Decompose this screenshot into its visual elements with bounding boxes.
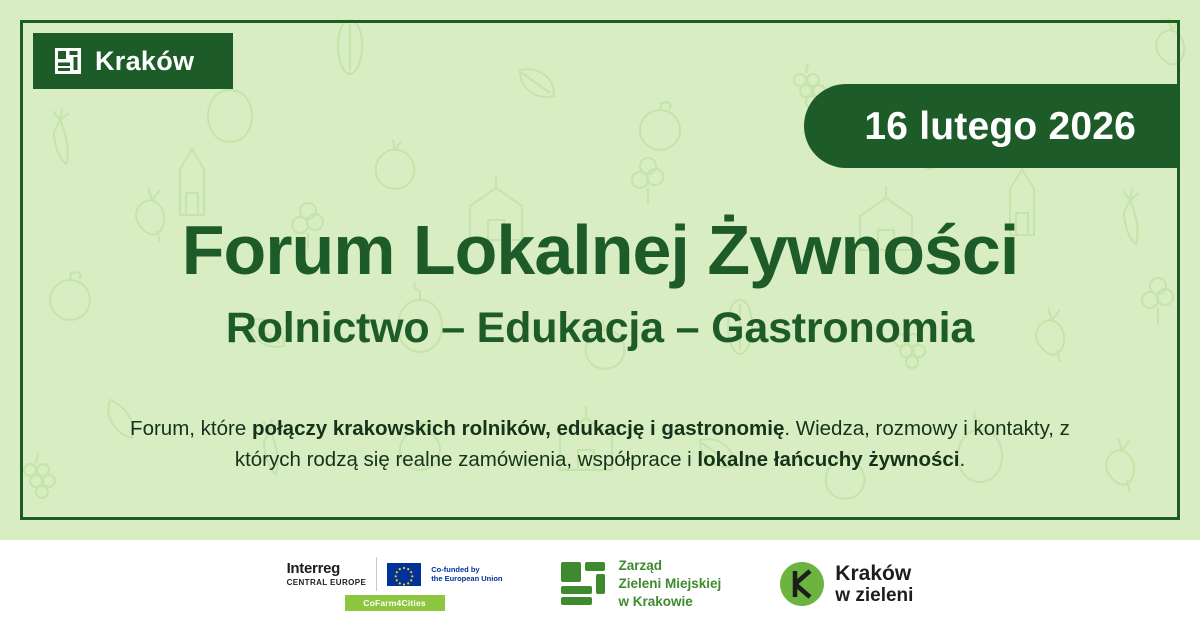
eu-flag-icon xyxy=(387,563,421,586)
poster-green-panel: Kraków 16 lutego 2026 Forum Lokalnej Żyw… xyxy=(0,0,1200,540)
zzm-leaf-grid-icon xyxy=(561,562,609,606)
kwz-line2: w zieleni xyxy=(835,585,913,606)
krakow-square-mark-icon xyxy=(55,48,81,74)
krakow-green-leaf-icon xyxy=(779,561,825,607)
interreg-wordmark: Interreg CENTRAL EUROPE xyxy=(287,561,367,587)
krakow-w-zieleni-wordmark: Kraków w zieleni xyxy=(835,562,913,607)
event-date-text: 16 lutego 2026 xyxy=(864,107,1136,146)
interreg-name-line1: Interreg xyxy=(287,561,367,576)
desc-line2-bold: lokalne łańcuchy żywności xyxy=(697,448,959,471)
krakow-logo-text: Kraków xyxy=(95,48,194,75)
kwz-line1: Kraków xyxy=(835,562,913,586)
logo-divider xyxy=(376,557,377,591)
interreg-logo: Interreg CENTRAL EUROPE xyxy=(287,557,503,611)
zzm-line1: Zarząd xyxy=(619,557,722,575)
desc-line1-part2: . Wiedza, rozmowy i xyxy=(784,417,967,440)
desc-line2-part2: . xyxy=(959,448,965,471)
zzm-line3: w Krakowie xyxy=(619,593,722,611)
event-description: Forum, które połączy krakowskich rolnikó… xyxy=(95,413,1105,477)
zzm-line2: Zieleni Miejskiej xyxy=(619,575,722,593)
zzm-logo: Zarząd Zieleni Miejskiej w Krakowie xyxy=(561,557,722,612)
cofarm4cities-tag: CoFarm4Cities xyxy=(345,595,445,611)
title-block: Forum Lokalnej Żywności Rolnictwo – Eduk… xyxy=(0,215,1200,350)
interreg-name-line2: CENTRAL EUROPE xyxy=(287,579,367,587)
eu-funding-text: Co-funded by the European Union xyxy=(431,565,502,584)
event-date-badge: 16 lutego 2026 xyxy=(804,84,1180,168)
eu-funding-line1: Co-funded by xyxy=(431,565,502,574)
poster-root: Kraków 16 lutego 2026 Forum Lokalnej Żyw… xyxy=(0,0,1200,628)
event-subtitle: Rolnictwo – Edukacja – Gastronomia xyxy=(0,307,1200,350)
event-title: Forum Lokalnej Żywności xyxy=(0,215,1200,285)
footer-logo-bar: Interreg CENTRAL EUROPE xyxy=(0,540,1200,628)
eu-funding-line2: the European Union xyxy=(431,574,502,583)
zzm-wordmark: Zarząd Zieleni Miejskiej w Krakowie xyxy=(619,557,722,612)
desc-line1-bold: połączy krakowskich rolników, edukację i… xyxy=(252,417,784,440)
krakow-logo: Kraków xyxy=(33,33,233,89)
krakow-w-zieleni-logo: Kraków w zieleni xyxy=(779,561,913,607)
desc-line1-part1: Forum, które xyxy=(130,417,252,440)
